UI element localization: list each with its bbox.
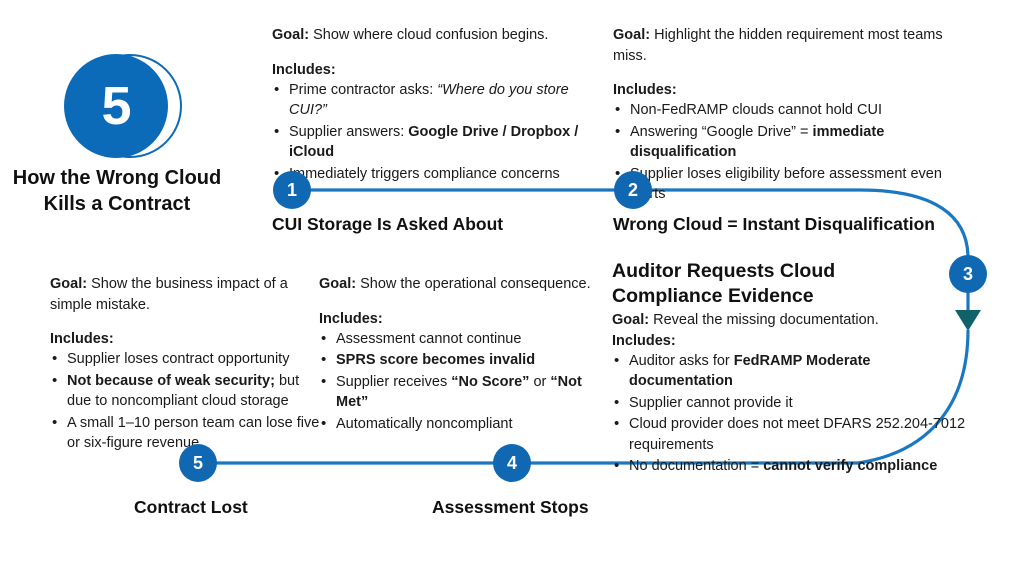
list-item: Assessment cannot continue bbox=[319, 329, 591, 350]
list-item: Supplier cannot provide it bbox=[612, 393, 972, 414]
step-marker-4[interactable]: 4 bbox=[493, 444, 531, 482]
list-item: Answering “Google Drive” = immediate dis… bbox=[613, 122, 973, 163]
list-item: Supplier receives “No Score” or “Not Met… bbox=[319, 372, 591, 413]
step-3-goal: Goal: Reveal the missing documentation. bbox=[612, 310, 972, 331]
step-4-goal: Goal: Show the operational consequence. bbox=[319, 274, 591, 295]
step-4-content: Goal: Show the operational consequence. … bbox=[319, 274, 591, 435]
list-item: SPRS score becomes invalid bbox=[319, 350, 591, 371]
step-label-3: Auditor Requests Cloud Compliance Eviden… bbox=[612, 259, 932, 308]
step-3-content: Goal: Reveal the missing documentation. … bbox=[612, 310, 972, 478]
step-marker-2-number: 2 bbox=[628, 181, 638, 199]
list-item: No documentation = cannot verify complia… bbox=[612, 456, 972, 477]
step-4-bullet-list: Assessment cannot continue SPRS score be… bbox=[319, 329, 591, 435]
step-2-bullet-list: Non-FedRAMP clouds cannot hold CUI Answe… bbox=[613, 100, 973, 205]
step-marker-1-number: 1 bbox=[287, 181, 297, 199]
list-item: Not because of weak security; but due to… bbox=[50, 371, 322, 412]
step-4-goal-text: Show the operational consequence. bbox=[360, 276, 591, 292]
list-item: Auditor asks for FedRAMP Moderate docume… bbox=[612, 351, 972, 392]
goal-label: Goal: bbox=[50, 276, 87, 292]
step-1-goal-text: Show where cloud confusion begins. bbox=[313, 27, 548, 43]
step-5-bullet-list: Supplier loses contract opportunity Not … bbox=[50, 349, 322, 454]
step-marker-3-number: 3 bbox=[963, 265, 973, 283]
list-item: Prime contractor asks: “Where do you sto… bbox=[272, 80, 592, 121]
goal-label: Goal: bbox=[612, 312, 649, 328]
step-3-includes-heading: Includes: bbox=[612, 333, 972, 349]
list-item: Supplier loses eligibility before assess… bbox=[613, 164, 973, 205]
step-2-includes-heading: Includes: bbox=[613, 82, 973, 98]
step-marker-1[interactable]: 1 bbox=[273, 171, 311, 209]
list-item: Non-FedRAMP clouds cannot hold CUI bbox=[613, 100, 973, 121]
step-marker-5-number: 5 bbox=[193, 454, 203, 472]
step-5-content: Goal: Show the business impact of a simp… bbox=[50, 274, 322, 455]
hero-badge: 5 bbox=[62, 52, 180, 162]
step-5-includes-heading: Includes: bbox=[50, 331, 322, 347]
list-item: Automatically noncompliant bbox=[319, 414, 591, 435]
list-item: Supplier loses contract opportunity bbox=[50, 349, 322, 370]
step-label-5: Contract Lost bbox=[134, 497, 248, 518]
goal-label: Goal: bbox=[613, 27, 650, 43]
step-label-4: Assessment Stops bbox=[432, 497, 589, 518]
goal-label: Goal: bbox=[319, 276, 356, 292]
step-marker-2[interactable]: 2 bbox=[614, 171, 652, 209]
step-2-goal: Goal: Highlight the hidden requirement m… bbox=[613, 25, 973, 66]
step-5-goal: Goal: Show the business impact of a simp… bbox=[50, 274, 322, 315]
step-1-includes-heading: Includes: bbox=[272, 62, 592, 78]
hero-badge-disc: 5 bbox=[64, 54, 168, 158]
step-2-goal-text: Highlight the hidden requirement most te… bbox=[613, 27, 943, 64]
step-1-content: Goal: Show where cloud confusion begins.… bbox=[272, 25, 592, 185]
goal-label: Goal: bbox=[272, 27, 309, 43]
infographic-canvas: 5 How the Wrong Cloud Kills a Contract G… bbox=[0, 0, 1024, 576]
step-3-bullet-list: Auditor asks for FedRAMP Moderate docume… bbox=[612, 351, 972, 477]
step-1-goal: Goal: Show where cloud confusion begins. bbox=[272, 25, 592, 46]
step-label-1: CUI Storage Is Asked About bbox=[272, 214, 503, 235]
list-item: Cloud provider does not meet DFARS 252.2… bbox=[612, 414, 972, 455]
step-1-bullet-list: Prime contractor asks: “Where do you sto… bbox=[272, 80, 592, 185]
step-marker-4-number: 4 bbox=[507, 454, 517, 472]
step-label-2: Wrong Cloud = Instant Disqualification bbox=[613, 214, 935, 235]
list-item: Immediately triggers compliance concerns bbox=[272, 164, 592, 185]
step-marker-3[interactable]: 3 bbox=[949, 255, 987, 293]
step-marker-5[interactable]: 5 bbox=[179, 444, 217, 482]
list-item: Supplier answers: Google Drive / Dropbox… bbox=[272, 122, 592, 163]
page-title: How the Wrong Cloud Kills a Contract bbox=[0, 166, 234, 217]
hero-badge-number: 5 bbox=[101, 79, 130, 133]
step-4-includes-heading: Includes: bbox=[319, 311, 591, 327]
step-2-content: Goal: Highlight the hidden requirement m… bbox=[613, 25, 973, 206]
step-3-goal-text: Reveal the missing documentation. bbox=[653, 312, 879, 328]
